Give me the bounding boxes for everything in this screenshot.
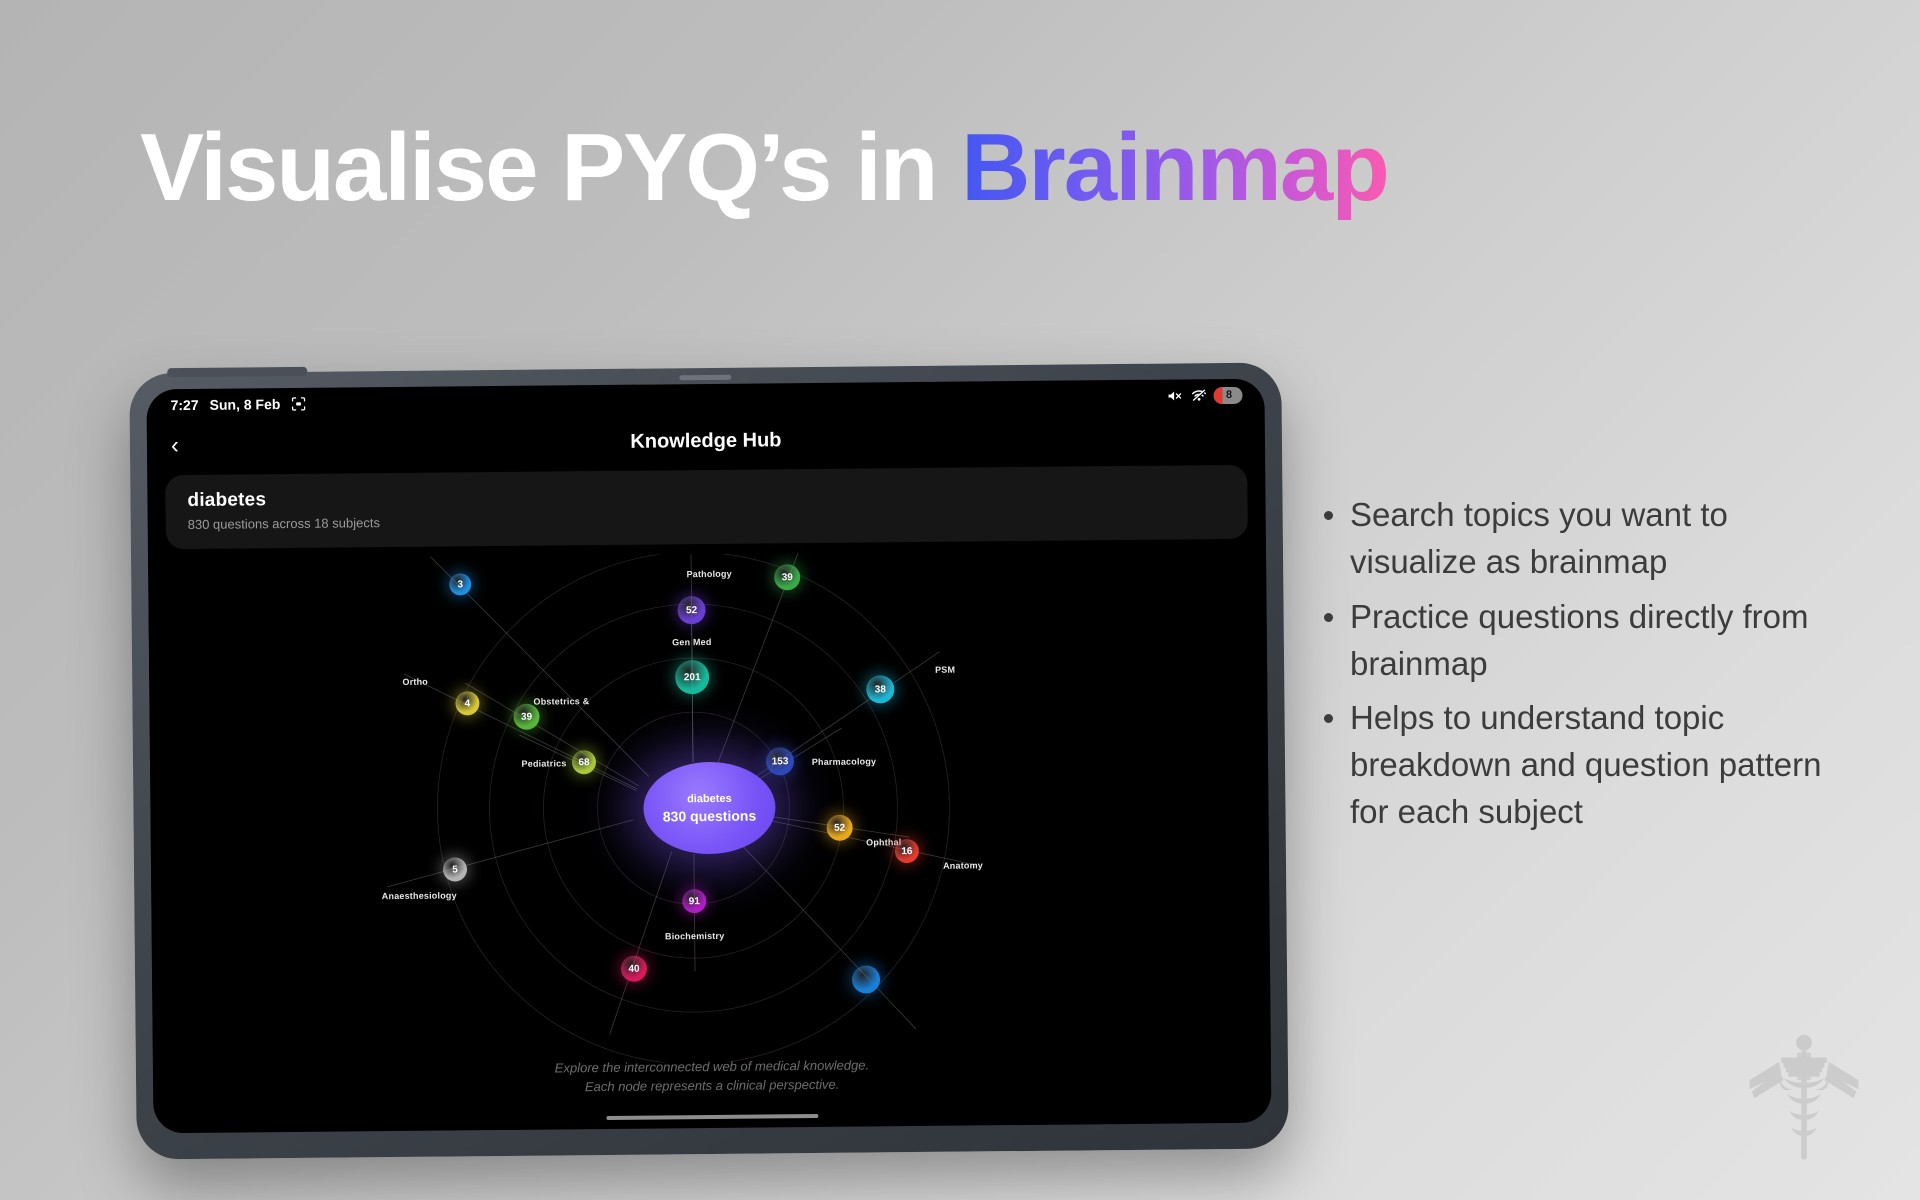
brainmap-node-label: Pathology [687,569,732,579]
page-title: Visualise PYQ’s in Brainmap [140,118,1388,219]
brainmap-node-value: 3 [457,579,463,590]
brainmap-node[interactable]: 40 [621,956,647,982]
search-summary-text: 830 questions across 18 subjects [188,507,1226,532]
brainmap-node-label: Anaesthesiology [382,890,457,901]
brainmap-node-label: Anatomy [943,860,983,870]
brainmap-node[interactable]: 39 [774,564,800,590]
caduceus-icon [1746,1028,1862,1164]
brainmap-node-value: 153 [772,756,789,767]
brainmap-node-value: 4 [465,698,471,709]
app-title: Knowledge Hub [147,424,1265,458]
brainmap-node[interactable]: 91 [682,889,706,913]
brainmap-node-value: 16 [901,846,912,857]
battery-status-badge: 8 [1215,386,1242,403]
screenshot-icon[interactable] [291,397,305,411]
mute-icon [1167,389,1182,402]
search-term-value: diabetes [187,480,1225,512]
brainmap-node-value: 52 [834,822,845,833]
brainmap-node[interactable]: 153 [766,747,794,775]
brainmap-node[interactable]: 3 [449,573,471,595]
brainmap-node-value: 39 [521,711,532,722]
app-header: ‹ Knowledge Hub [147,411,1265,472]
brainmap-node-label: PSM [935,665,955,675]
feature-bullet-item: Practice questions directly from brainma… [1318,594,1858,688]
tablet-power-button [167,367,307,377]
tablet-screen: 7:27 Sun, 8 Feb [146,379,1271,1134]
feature-bullet-list: Search topics you want to visualize as b… [1318,492,1858,844]
brainmap-node[interactable]: 52 [677,596,705,624]
brainmap-node-value: 52 [686,605,697,616]
brainmap-node-label: Biochemistry [665,931,725,942]
brainmap-node-value: 39 [782,572,793,583]
center-node-value: 830 questions [663,807,757,824]
brainmap-node[interactable] [852,965,880,993]
brainmap-node-label: Pediatrics [521,758,566,768]
brainmap-node-label: Pharmacology [812,756,877,767]
brainmap-node[interactable]: 39 [513,704,539,730]
brainmap-node[interactable]: 5 [443,857,467,881]
brainmap-node-value: 91 [689,896,700,907]
brainmap-node[interactable]: 4 [455,691,479,715]
wifi-off-icon [1191,389,1206,402]
brainmap-node-value: 5 [452,864,458,875]
brainmap-node-value: 38 [875,684,886,695]
feature-bullet-item: Helps to understand topic breakdown and … [1318,695,1858,836]
tablet-camera-nub [679,375,731,380]
brainmap-node-label: Ortho [402,677,428,687]
brainmap-node-value: 68 [578,757,589,768]
tablet-device-frame: 7:27 Sun, 8 Feb [129,362,1288,1159]
brainmap-node-label: Gen Med [672,637,712,647]
slide-canvas: Visualise PYQ’s in Brainmap 7:27 Sun, 8 … [0,0,1920,1200]
page-title-plain: Visualise PYQ’s in [140,114,961,221]
brainmap-node[interactable]: 52 [827,815,853,841]
feature-bullet-item: Search topics you want to visualize as b… [1318,492,1858,586]
brainmap-node-value: 40 [628,963,639,974]
brainmap-canvas[interactable]: diabetes 830 questions 352Pathology39201… [148,549,1271,1068]
home-indicator[interactable] [606,1114,818,1120]
center-node-label: diabetes [687,792,732,804]
brainmap-node-label: Obstetrics & [533,696,589,707]
brainmap-node[interactable]: 38 [866,675,894,703]
brainmap-node[interactable]: 68 [572,750,596,774]
status-time: 7:27 [170,397,198,413]
brainmap-node-value: 201 [684,672,701,683]
page-title-brand: Brainmap [961,114,1388,221]
status-date: Sun, 8 Feb [210,396,281,413]
brainmap-node[interactable]: 16 [895,839,919,863]
brainmap-node[interactable]: 201 [675,660,709,694]
topic-search-card[interactable]: diabetes 830 questions across 18 subject… [165,465,1248,549]
